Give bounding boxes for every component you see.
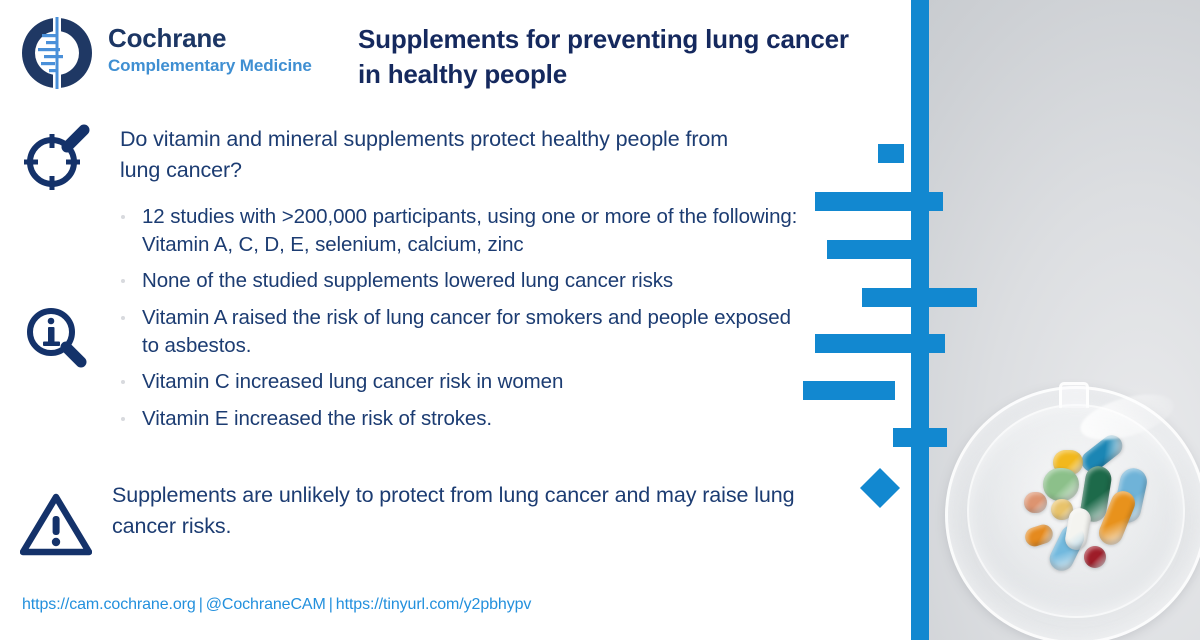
infographic-poster: Cochrane Complementary Medicine Suppleme…	[0, 0, 1200, 640]
brand-subtitle: Complementary Medicine	[108, 55, 312, 77]
forest-plot-bar-5	[815, 334, 945, 353]
footer-links: https://cam.cochrane.org|@CochraneCAM|ht…	[22, 596, 531, 614]
social-handle-link[interactable]: @CochraneCAM	[206, 596, 326, 613]
finding-item: 12 studies with >200,000 participants, u…	[118, 203, 808, 258]
finding-item: None of the studied supplements lowered …	[118, 267, 808, 295]
forest-plot-diamond	[860, 468, 900, 508]
website-link[interactable]: https://cam.cochrane.org	[22, 596, 196, 613]
findings-list: 12 studies with >200,000 participants, u…	[118, 203, 808, 442]
forest-plot-bar-3	[827, 240, 911, 259]
page-title: Supplements for preventing lung cancer i…	[358, 22, 878, 91]
forest-plot-axis	[911, 0, 929, 640]
footer-separator-1: |	[196, 596, 206, 613]
finding-item: Vitamin C increased lung cancer risk in …	[118, 368, 808, 396]
question-text: Do vitamin and mineral supplements prote…	[120, 124, 760, 185]
forest-plot-bar-1	[878, 144, 904, 163]
cup-of-pills-photo	[929, 0, 1200, 640]
cochrane-logo: Cochrane Complementary Medicine	[18, 12, 348, 94]
short-link[interactable]: https://tinyurl.com/y2pbhypv	[336, 596, 532, 613]
red-tablet	[1084, 546, 1106, 568]
cochrane-logo-icon	[18, 14, 96, 92]
finding-item: Vitamin E increased the risk of strokes.	[118, 405, 808, 433]
peach-tablet	[1024, 492, 1047, 513]
target-icon	[22, 124, 90, 192]
conclusion-text: Supplements are unlikely to protect from…	[112, 480, 812, 541]
forest-plot-bar-2	[815, 192, 943, 211]
forest-plot-bar-6	[803, 381, 895, 400]
brand-name: Cochrane	[108, 24, 312, 53]
info-magnifier-icon	[24, 305, 88, 369]
footer-separator-2: |	[326, 596, 336, 613]
green-tablet	[1043, 468, 1079, 501]
warning-triangle-icon	[20, 492, 92, 556]
finding-item: Vitamin A raised the risk of lung cancer…	[118, 304, 808, 359]
